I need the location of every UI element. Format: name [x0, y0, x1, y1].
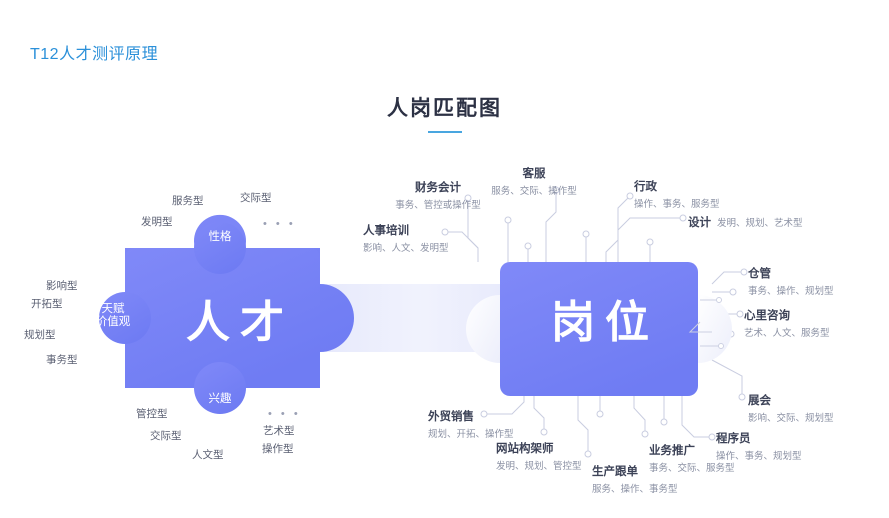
job-traits: 影响、交际、规划型	[748, 410, 834, 424]
job-traits: 规划、开拓、操作型	[428, 426, 514, 440]
job-label[interactable]: 心里咨询艺术、人文、服务型	[744, 307, 830, 339]
job-traits: 发明、规划、管控型	[496, 458, 582, 472]
job-traits: 操作、事务、服务型	[634, 196, 720, 210]
trait-label-personality: 服务型	[172, 193, 204, 208]
job-label[interactable]: 网站构架师发明、规划、管控型	[496, 440, 582, 472]
job-traits: 服务、操作、事务型	[592, 481, 678, 495]
job-title: 财务会计	[395, 179, 481, 195]
job-traits: 服务、交际、操作型	[491, 183, 577, 197]
job-title: 行政	[634, 178, 720, 194]
job-traits: 发明、规划、艺术型	[717, 218, 803, 229]
trait-label-talent-values: 规划型	[24, 327, 56, 342]
trait-label-talent-values: 事务型	[46, 352, 78, 367]
trait-label-talent-values: 影响型	[46, 278, 78, 293]
trait-label-interest: 交际型	[150, 428, 182, 443]
ellipsis-dots: • • •	[263, 218, 296, 230]
job-title: 设计	[688, 217, 711, 229]
trait-label-interest: 艺术型	[263, 423, 295, 438]
job-title: 外贸销售	[428, 408, 514, 424]
job-label[interactable]: 仓管事务、操作、规划型	[748, 265, 834, 297]
position-puzzle-piece[interactable]	[466, 262, 732, 396]
trait-label-interest: 人文型	[192, 447, 224, 462]
job-label[interactable]: 客服服务、交际、操作型	[491, 165, 577, 197]
slide-canvas: T12人才测评原理 人岗匹配图	[0, 0, 889, 518]
person-job-match-diagram: 人才 岗位 性格 天赋 价值观 兴趣 服务型交际型发明型影响型开拓型规划型事务型…	[0, 0, 889, 518]
job-label[interactable]: 财务会计事务、管控或操作型	[395, 179, 481, 211]
job-label[interactable]: 设计发明、规划、艺术型	[688, 213, 803, 231]
job-traits: 艺术、人文、服务型	[744, 325, 830, 339]
ellipsis-dots: • • •	[268, 408, 301, 420]
trait-label-interest: 操作型	[262, 441, 294, 456]
job-label[interactable]: 行政操作、事务、服务型	[634, 178, 720, 210]
trait-label-personality: 交际型	[240, 190, 272, 205]
job-title: 业务推广	[649, 442, 735, 458]
job-traits: 事务、管控或操作型	[395, 197, 481, 211]
trait-label-talent-values: 开拓型	[31, 296, 63, 311]
job-title: 仓管	[748, 265, 834, 281]
job-title: 网站构架师	[496, 440, 582, 456]
job-traits: 影响、人文、发明型	[363, 240, 449, 254]
job-title: 展会	[748, 392, 834, 408]
job-traits: 事务、交际、服务型	[649, 460, 735, 474]
job-label[interactable]: 外贸销售规划、开拓、操作型	[428, 408, 514, 440]
job-label[interactable]: 业务推广事务、交际、服务型	[649, 442, 735, 474]
job-label[interactable]: 人事培训影响、人文、发明型	[363, 222, 449, 254]
job-traits: 事务、操作、规划型	[748, 283, 834, 297]
job-label[interactable]: 展会影响、交际、规划型	[748, 392, 834, 424]
job-title: 人事培训	[363, 222, 449, 238]
trait-label-interest: 管控型	[136, 406, 168, 421]
job-title: 客服	[491, 165, 577, 181]
trait-label-personality: 发明型	[141, 214, 173, 229]
job-title: 心里咨询	[744, 307, 830, 323]
